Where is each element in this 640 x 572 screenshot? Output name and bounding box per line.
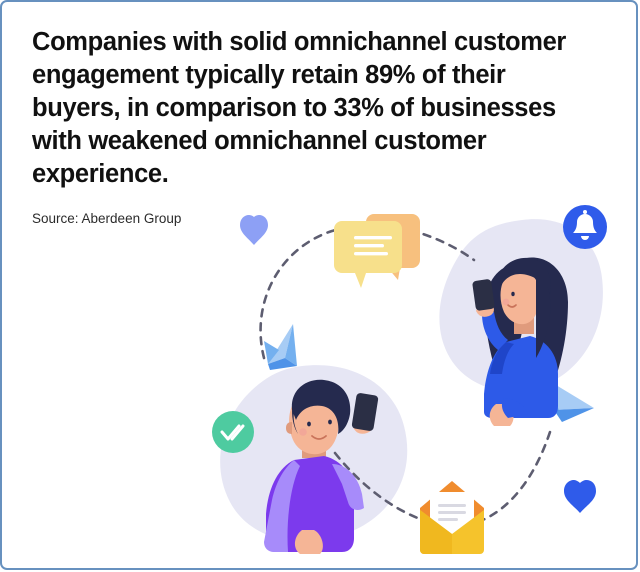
- infographic-card: Companies with solid omnichannel custome…: [0, 0, 638, 570]
- woman-with-phone-figure: [472, 257, 568, 426]
- man-with-phone-figure: [264, 380, 379, 554]
- background-blob-bottom-left: [220, 365, 407, 541]
- heart-right-icon: [564, 480, 596, 513]
- paper-plane-right-icon: [551, 382, 594, 422]
- headline-text: Companies with solid omnichannel custome…: [32, 26, 584, 191]
- dashed-connector: [261, 225, 550, 526]
- double-check-badge-icon: [212, 411, 254, 453]
- notification-bell-badge-icon: [563, 205, 607, 249]
- paper-plane-left-icon: [264, 324, 297, 370]
- heart-left-icon: [240, 215, 268, 245]
- chat-bubbles-icon: [334, 214, 420, 288]
- envelope-icon: [420, 481, 484, 554]
- source-attribution: Source: Aberdeen Group: [32, 210, 181, 228]
- background-blob-top-right: [439, 219, 603, 391]
